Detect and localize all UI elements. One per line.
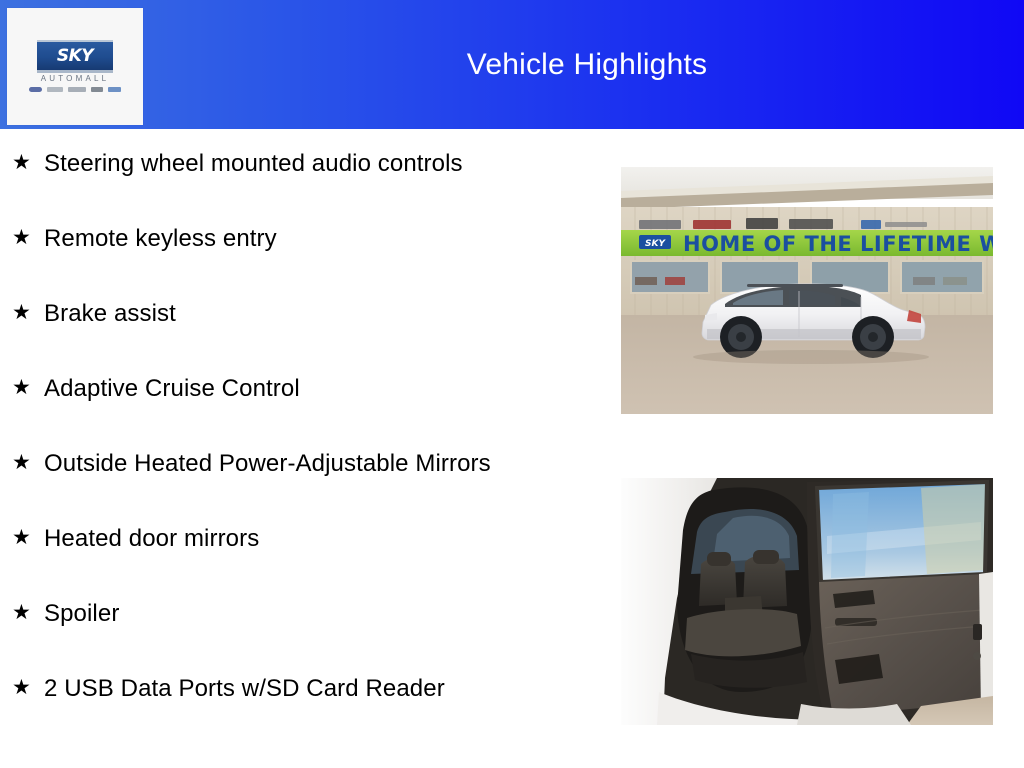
svg-text:SKY: SKY xyxy=(645,239,666,249)
sky-brand-text: SKY xyxy=(57,48,93,65)
star-bullet-icon: ★ xyxy=(12,147,44,177)
list-item: ★ Remote keyless entry xyxy=(0,222,600,297)
ram-logo-icon xyxy=(108,87,121,92)
slide-canvas: Vehicle Highlights SKY AUTOMALL ★ Steeri… xyxy=(0,0,1024,768)
jeep-logo-icon xyxy=(91,87,103,92)
logo-inner: SKY AUTOMALL xyxy=(23,40,127,93)
chrysler-logo-icon xyxy=(47,87,63,92)
feature-label: 2 USB Data Ports w/SD Card Reader xyxy=(44,672,445,706)
ford-logo-icon xyxy=(29,87,42,92)
feature-label: Heated door mirrors xyxy=(44,522,259,556)
list-item: ★ Heated door mirrors xyxy=(0,522,600,597)
page-title: Vehicle Highlights xyxy=(150,0,1024,129)
list-item: ★ 2 USB Data Ports w/SD Card Reader xyxy=(0,672,600,747)
list-item: ★ Steering wheel mounted audio controls xyxy=(0,147,600,222)
list-item: ★ Outside Heated Power-Adjustable Mirror… xyxy=(0,447,600,522)
star-bullet-icon: ★ xyxy=(12,447,44,477)
list-item: ★ Adaptive Cruise Control xyxy=(0,372,600,447)
list-item: ★ Brake assist xyxy=(0,297,600,372)
svg-text:HOME OF THE LIFETIME WARRANTY: HOME OF THE LIFETIME WARRANTY xyxy=(683,232,993,256)
sky-logo-plate: SKY xyxy=(37,40,113,70)
automall-text: AUTOMALL xyxy=(41,75,110,83)
list-item: ★ Spoiler xyxy=(0,597,600,672)
vehicle-interior-photo xyxy=(621,478,993,725)
interior-photo-art xyxy=(621,478,993,725)
feature-label: Steering wheel mounted audio controls xyxy=(44,147,463,181)
feature-label: Adaptive Cruise Control xyxy=(44,372,300,406)
exterior-photo-art: SKY HOME OF THE LIFETIME WARRANTY xyxy=(621,167,993,414)
feature-label: Spoiler xyxy=(44,597,119,631)
oem-brand-strip xyxy=(29,86,121,93)
vehicle-exterior-photo: SKY HOME OF THE LIFETIME WARRANTY xyxy=(621,167,993,414)
feature-list: ★ Steering wheel mounted audio controls … xyxy=(0,147,600,747)
star-bullet-icon: ★ xyxy=(12,372,44,402)
feature-label: Remote keyless entry xyxy=(44,222,277,256)
star-bullet-icon: ★ xyxy=(12,522,44,552)
dealer-logo: SKY AUTOMALL xyxy=(7,8,143,125)
star-bullet-icon: ★ xyxy=(12,672,44,702)
star-bullet-icon: ★ xyxy=(12,597,44,627)
star-bullet-icon: ★ xyxy=(12,222,44,252)
feature-label: Brake assist xyxy=(44,297,176,331)
star-bullet-icon: ★ xyxy=(12,297,44,327)
dodge-logo-icon xyxy=(68,87,86,92)
feature-label: Outside Heated Power-Adjustable Mirrors xyxy=(44,447,491,481)
